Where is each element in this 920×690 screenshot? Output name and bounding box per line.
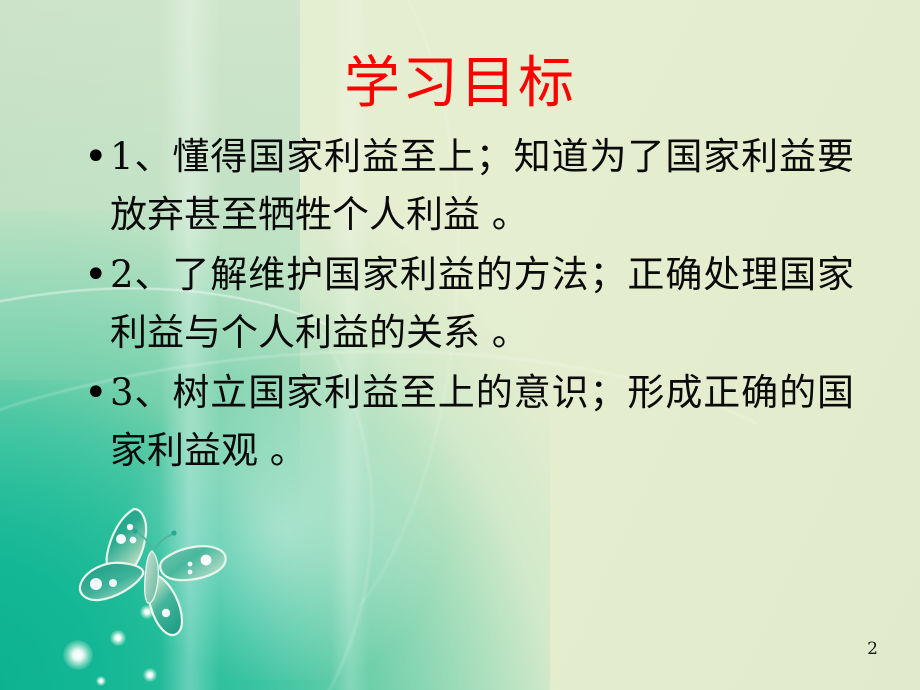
presentation-slide: 学习目标 • 1、懂得国家利益至上；知道为了国家利益要放弃甚至牺牲个人利益 。 …	[0, 0, 920, 690]
bullet-item: • 2、了解维护国家利益的方法；正确处理国家利益与个人利益的关系 。	[84, 246, 854, 362]
bullet-item: • 1、懂得国家利益至上；知道为了国家利益要放弃甚至牺牲个人利益 。	[84, 128, 854, 244]
page-number: 2	[867, 641, 878, 658]
bullet-marker-icon: •	[84, 128, 110, 186]
sparkle-dot	[63, 640, 93, 670]
page-title: 学习目标	[0, 53, 920, 115]
sparkle-dot	[143, 668, 157, 682]
butterfly-icon	[72, 495, 252, 645]
bullet-text: 1、懂得国家利益至上；知道为了国家利益要放弃甚至牺牲个人利益 。	[110, 128, 854, 244]
sparkle-dot	[110, 630, 126, 646]
slide-body: • 1、懂得国家利益至上；知道为了国家利益要放弃甚至牺牲个人利益 。 • 2、了…	[84, 128, 854, 482]
bullet-text: 2、了解维护国家利益的方法；正确处理国家利益与个人利益的关系 。	[110, 246, 854, 362]
bullet-text: 3、树立国家利益至上的意识；形成正确的国家利益观 。	[110, 364, 854, 480]
sparkle-dot	[140, 605, 154, 619]
bullet-marker-icon: •	[84, 246, 110, 304]
bullet-marker-icon: •	[84, 364, 110, 422]
sparkle-dot	[96, 676, 106, 686]
bullet-item: • 3、树立国家利益至上的意识；形成正确的国家利益观 。	[84, 364, 854, 480]
